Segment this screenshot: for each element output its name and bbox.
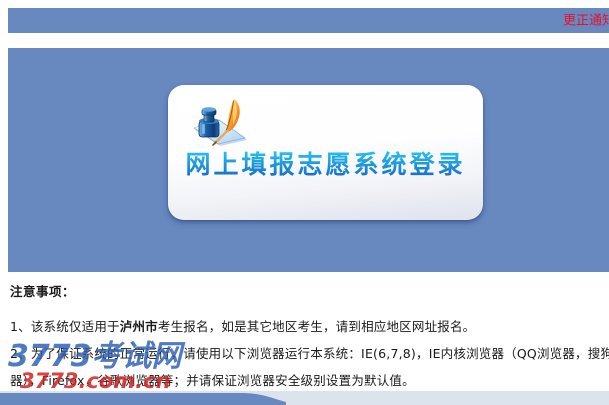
correction-notice-link[interactable]: 更正通知: [563, 14, 609, 27]
notes-section: 注意事项： 1、该系统仅适用于泸州市考生报名，如是其它地区考生，请到相应地区网址…: [10, 286, 609, 394]
login-entry-card[interactable]: 网上填报志愿系统登录: [168, 85, 483, 220]
note-item-text: 器），Firefox，谷歌浏览器等；并请保证浏览器安全级别设置为默认值。: [10, 373, 415, 388]
notes-heading: 注意事项：: [10, 286, 609, 299]
note-item: 2、为了保证系统的正常运行，请使用以下浏览器运行本系统：IE(6,7,8)，IE…: [10, 340, 609, 367]
note-item-text: 2、为了保证系统的正常运行，请使用以下浏览器运行本系统：IE(6,7,8)，IE…: [10, 346, 609, 361]
note-item-text-cont: 考生报名，如是其它地区考生，请到相应地区网址报名。: [158, 319, 476, 334]
footer-left-segment: [0, 393, 286, 405]
inkwell-quill-icon: [190, 97, 252, 149]
footer-bar: [0, 391, 609, 405]
note-item-emphasis: 泸州市: [120, 319, 158, 334]
note-item: 1、该系统仅适用于泸州市考生报名，如是其它地区考生，请到相应地区网址报名。: [10, 313, 609, 340]
note-item-text: 1、该系统仅适用于: [10, 319, 120, 334]
top-header-bar: 更正通知: [8, 8, 609, 33]
login-title: 网上填报志愿系统登录: [168, 151, 483, 179]
login-panel: 网上填报志愿系统登录: [8, 48, 609, 272]
note-item: 器），Firefox，谷歌浏览器等；并请保证浏览器安全级别设置为默认值。: [10, 367, 609, 394]
